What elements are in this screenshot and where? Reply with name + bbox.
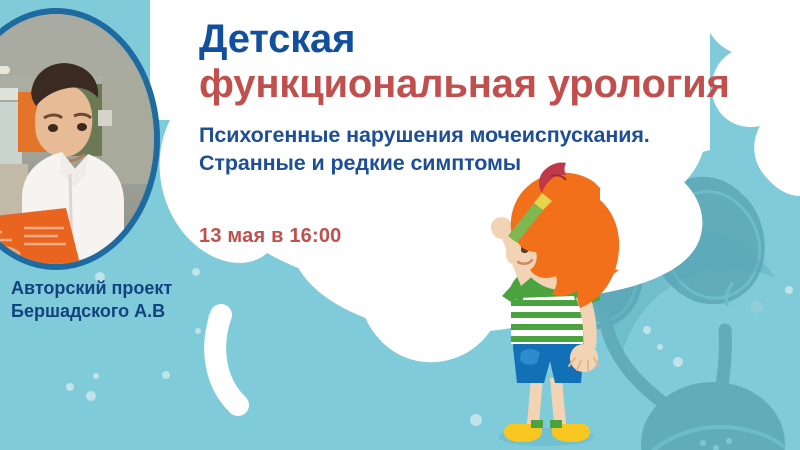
boy-hair-tuft-b bbox=[606, 268, 619, 278]
author-credit: Авторский проект Бершадского А.В bbox=[11, 277, 172, 324]
headline-block: Детская функциональная урология Психоген… bbox=[199, 18, 779, 178]
photo-ceiling-light-b bbox=[0, 66, 10, 74]
doctor-photo bbox=[0, 8, 160, 270]
subtitle-line-2: Странные и редкие симптомы bbox=[199, 150, 779, 178]
doctor-eye-l bbox=[48, 124, 58, 132]
boy-shirt-stripes bbox=[511, 296, 583, 344]
boy-leg-left bbox=[527, 378, 543, 424]
author-line-1: Авторский проект bbox=[11, 277, 172, 300]
boy-leg-right bbox=[550, 378, 566, 424]
boy-sock-right bbox=[550, 420, 562, 428]
author-line-2: Бершадского А.В bbox=[11, 300, 172, 323]
event-date: 13 мая в 16:00 bbox=[199, 225, 342, 248]
title-line-1: Детская bbox=[199, 18, 779, 61]
subtitle-line-1: Психогенные нарушения мочеиспускания. bbox=[199, 122, 779, 150]
boy-shorts-pocket bbox=[520, 349, 540, 365]
poster-canvas: Детская функциональная урология Психоген… bbox=[0, 0, 800, 450]
subtitle-block: Психогенные нарушения мочеиспускания. Ст… bbox=[199, 122, 779, 178]
title-line-2: функциональная урология bbox=[199, 63, 779, 106]
boy-sock-left bbox=[531, 420, 543, 428]
boy-character bbox=[491, 162, 619, 446]
doctor-eye-r bbox=[77, 123, 87, 131]
photo-wall-switch bbox=[98, 110, 112, 126]
photo-signage bbox=[0, 88, 18, 100]
